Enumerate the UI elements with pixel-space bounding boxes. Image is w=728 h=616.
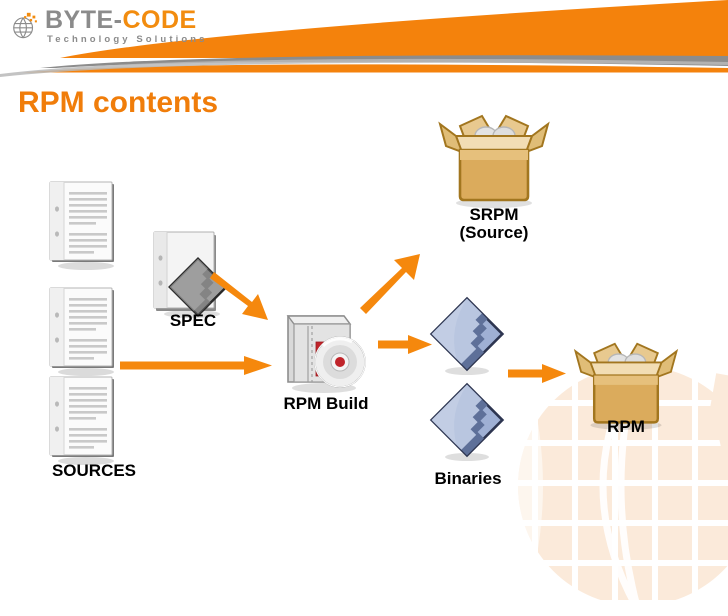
node-binaries-label: Binaries	[412, 470, 524, 488]
node-rpm-build-label: RPM Build	[248, 395, 404, 413]
node-binaries-1	[428, 296, 506, 376]
node-srpm-label: SRPM (Source)	[420, 206, 568, 243]
open-box-icon	[432, 110, 556, 208]
globe-icon	[10, 10, 40, 40]
node-binaries-2	[428, 382, 506, 462]
binary-diamond-icon	[428, 382, 506, 462]
logo-text-accent: CODE	[123, 6, 197, 34]
logo-wordmark: BYTE-CODE	[45, 8, 208, 33]
logo-tagline: Technology Solutions	[47, 35, 208, 45]
node-sources	[48, 182, 120, 270]
node-srpm-label-line1: SRPM	[420, 206, 568, 224]
node-srpm-label-line2: (Source)	[420, 224, 568, 242]
arrow-spec-to-build	[212, 268, 278, 328]
node-srpm	[432, 110, 556, 208]
node-sources-doc2	[48, 288, 120, 376]
document-icon	[48, 288, 120, 376]
node-rpm-label: RPM	[570, 418, 682, 436]
byte-code-logo: BYTE-CODE Technology Solutions	[10, 8, 208, 45]
node-sources-doc3	[48, 377, 120, 465]
node-sources-label: SOURCES	[24, 462, 164, 480]
arrow-build-to-srpm	[358, 246, 424, 314]
page-title: RPM contents	[18, 86, 218, 120]
document-icon	[48, 377, 120, 465]
binary-diamond-icon	[428, 296, 506, 376]
node-rpm-build	[278, 304, 374, 396]
arrow-binaries-to-rpm	[508, 363, 570, 385]
arrow-sources-to-build	[120, 355, 280, 377]
document-icon	[48, 182, 120, 270]
logo-text-primary: BYTE-	[45, 6, 123, 34]
package-build-icon	[278, 304, 374, 396]
arrow-build-to-binaries	[378, 334, 436, 356]
